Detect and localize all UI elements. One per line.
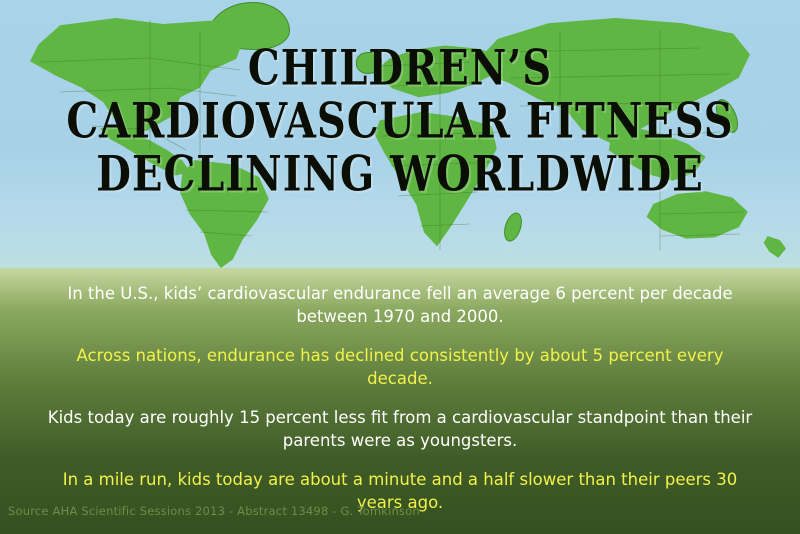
title-line-2: CARDIOVASCULAR FITNESS — [0, 97, 800, 147]
fact-global-decline: Across nations, endurance has declined c… — [0, 344, 800, 391]
infographic-poster: CHILDREN’S CARDIOVASCULAR FITNESS DECLIN… — [0, 0, 800, 534]
facts-panel: In the U.S., kids’ cardiovascular endura… — [0, 268, 800, 534]
fact-us-endurance: In the U.S., kids’ cardiovascular endura… — [0, 282, 800, 329]
poster-title: CHILDREN’S CARDIOVASCULAR FITNESS DECLIN… — [0, 44, 800, 190]
facts-list: In the U.S., kids’ cardiovascular endura… — [0, 282, 800, 529]
fact-less-fit-than-parents: Kids today are roughly 15 percent less f… — [0, 406, 800, 453]
source-citation: Source AHA Scientific Sessions 2013 - Ab… — [8, 504, 420, 518]
title-line-1: CHILDREN’S — [0, 44, 800, 94]
title-line-3: DECLINING WORLDWIDE — [0, 150, 800, 200]
